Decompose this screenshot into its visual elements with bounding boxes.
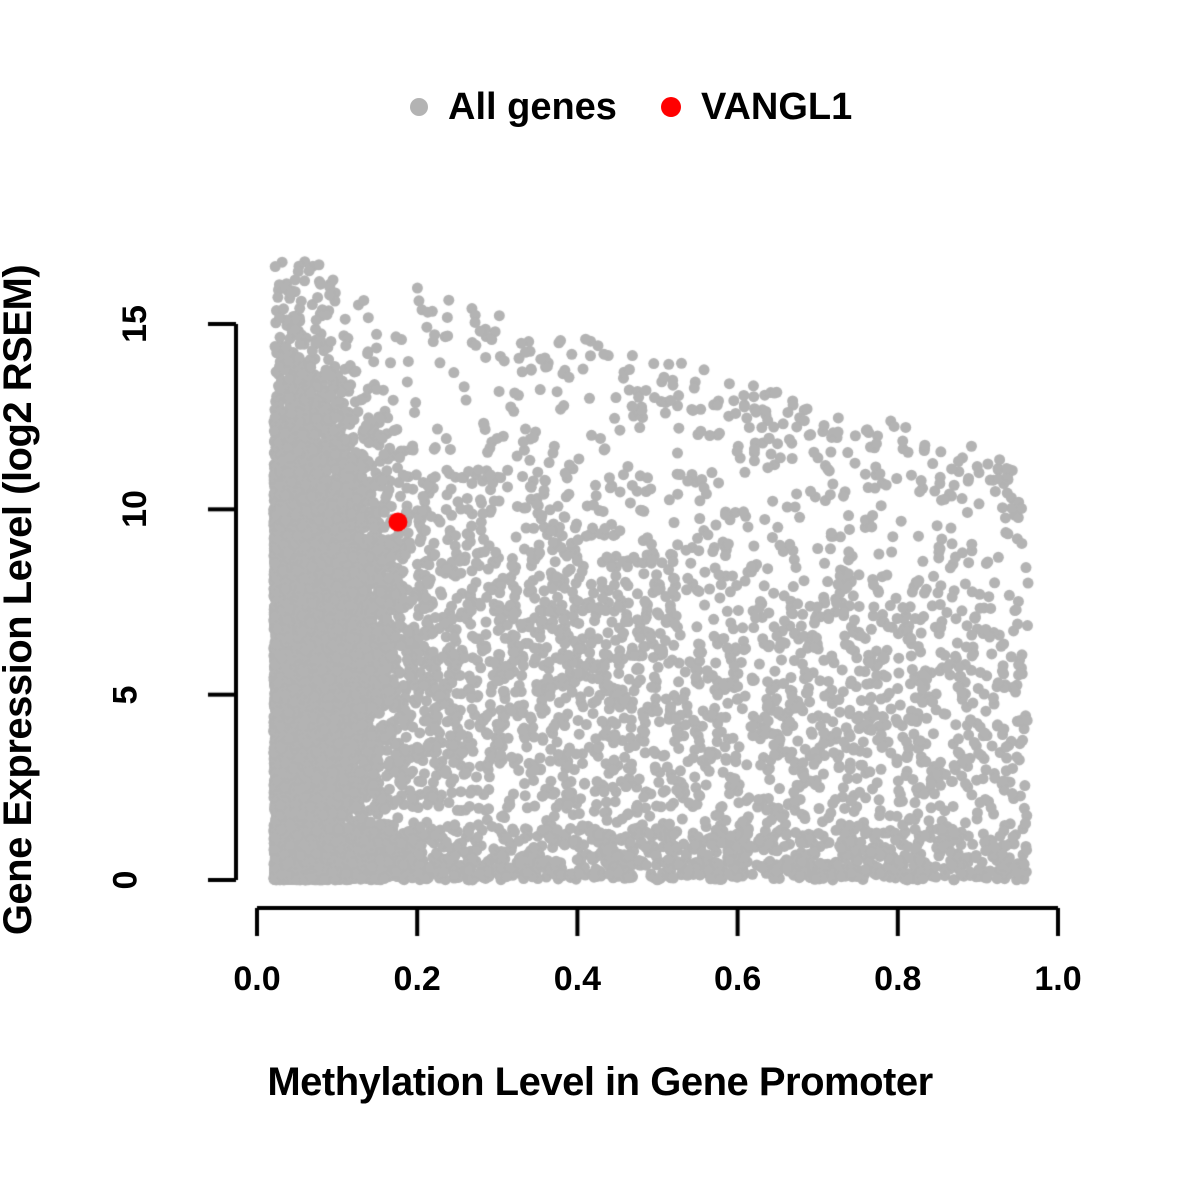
x-axis-title: Methylation Level in Gene Promoter bbox=[267, 1062, 932, 1102]
x-tick-label: 0.4 bbox=[554, 962, 601, 996]
x-tick-label: 0.2 bbox=[394, 962, 441, 996]
legend-marker-all-genes-icon bbox=[410, 98, 428, 116]
x-tick-label: 1.0 bbox=[1034, 962, 1081, 996]
y-tick-label: 15 bbox=[118, 305, 152, 343]
scatter-plot-figure: All genes VANGL1 Methylation Level in Ge… bbox=[0, 0, 1200, 1200]
legend-item-vangl1: VANGL1 bbox=[661, 86, 852, 129]
legend-marker-vangl1-icon bbox=[661, 97, 681, 117]
legend-item-all-genes: All genes bbox=[410, 86, 617, 129]
legend-label-vangl1: VANGL1 bbox=[701, 86, 852, 129]
y-tick-label: 5 bbox=[108, 685, 142, 704]
y-tick-label: 10 bbox=[118, 490, 152, 528]
x-tick-label: 0.6 bbox=[714, 962, 761, 996]
x-tick-label: 0.8 bbox=[874, 962, 921, 996]
y-axis-title-text: Gene Expression Level (log2 RSEM) bbox=[0, 180, 38, 1020]
y-axis-title: Gene Expression Level (log2 RSEM) bbox=[0, 0, 20, 600]
y-tick-label: 0 bbox=[108, 871, 142, 890]
plot-legend: All genes VANGL1 bbox=[410, 82, 852, 132]
scatter-plot-canvas bbox=[0, 0, 1200, 1200]
legend-label-all-genes: All genes bbox=[448, 86, 617, 129]
x-tick-label: 0.0 bbox=[233, 962, 280, 996]
